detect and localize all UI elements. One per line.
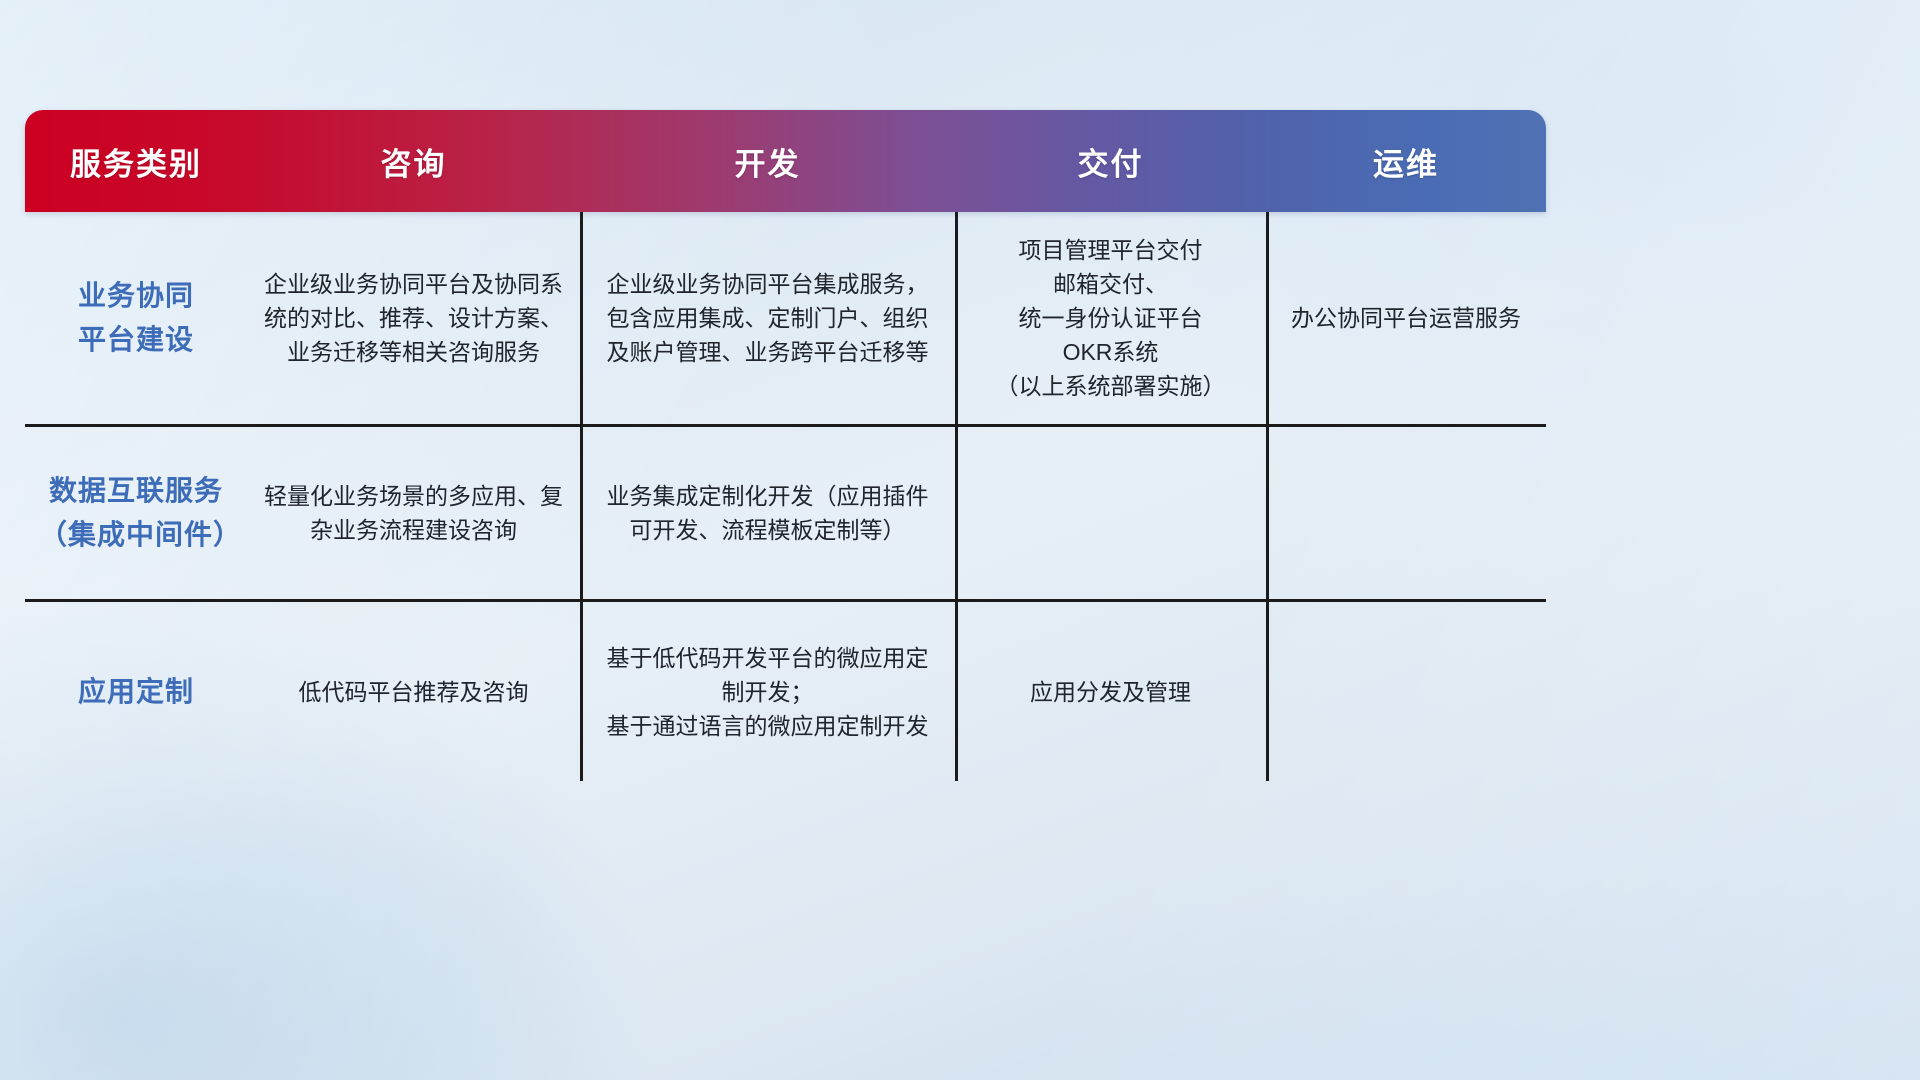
cell-operations: [1266, 427, 1546, 599]
table-row: 数据互联服务 （集成中间件） 轻量化业务场景的多应用、复 杂业务流程建设咨询 业…: [25, 424, 1546, 599]
cell-operations: [1266, 602, 1546, 781]
column-header-consulting: 咨询: [247, 110, 580, 212]
row-label-cell: 业务协同 平台建设: [25, 212, 247, 424]
cell-text: 办公协同平台运营服务: [1291, 301, 1521, 335]
cell-delivery: 应用分发及管理: [955, 602, 1266, 781]
column-header-label: 咨询: [381, 139, 447, 184]
cell-text: 轻量化业务场景的多应用、复 杂业务流程建设咨询: [264, 479, 563, 547]
row-label: 业务协同 平台建设: [78, 274, 194, 362]
cell-delivery: [955, 427, 1266, 599]
column-header-label: 运维: [1373, 139, 1439, 184]
slide-canvas: 服务类别 咨询 开发 交付 运维 业务协同 平台建设 企业级业务: [0, 0, 1920, 1080]
cell-development: 业务集成定制化开发（应用插件 可开发、流程模板定制等）: [580, 427, 955, 599]
row-label-cell: 应用定制: [25, 602, 247, 781]
cell-consulting: 轻量化业务场景的多应用、复 杂业务流程建设咨询: [247, 427, 580, 599]
cell-delivery: 项目管理平台交付 邮箱交付、 统一身份认证平台 OKR系统 （以上系统部署实施）: [955, 212, 1266, 424]
column-header-label: 服务类别: [70, 139, 202, 184]
cell-development: 基于低代码开发平台的微应用定 制开发； 基于通过语言的微应用定制开发: [580, 602, 955, 781]
column-header-delivery: 交付: [955, 110, 1266, 212]
cell-text: 企业级业务协同平台及协同系 统的对比、推荐、设计方案、 业务迁移等相关咨询服务: [264, 267, 563, 369]
table-header-row: 服务类别 咨询 开发 交付 运维: [25, 110, 1546, 212]
table-row: 业务协同 平台建设 企业级业务协同平台及协同系 统的对比、推荐、设计方案、 业务…: [25, 212, 1546, 424]
column-header-development: 开发: [580, 110, 955, 212]
cell-text: 业务集成定制化开发（应用插件 可开发、流程模板定制等）: [607, 479, 929, 547]
row-label-cell: 数据互联服务 （集成中间件）: [25, 427, 247, 599]
column-header-label: 交付: [1078, 139, 1144, 184]
column-header-service-category: 服务类别: [25, 110, 247, 212]
cell-consulting: 企业级业务协同平台及协同系 统的对比、推荐、设计方案、 业务迁移等相关咨询服务: [247, 212, 580, 424]
cell-text: 应用分发及管理: [1030, 675, 1191, 709]
cell-development: 企业级业务协同平台集成服务， 包含应用集成、定制门户、组织 及账户管理、业务跨平…: [580, 212, 955, 424]
column-header-label: 开发: [735, 139, 801, 184]
cell-operations: 办公协同平台运营服务: [1266, 212, 1546, 424]
table-body: 业务协同 平台建设 企业级业务协同平台及协同系 统的对比、推荐、设计方案、 业务…: [25, 212, 1546, 781]
column-header-operations: 运维: [1266, 110, 1546, 212]
cell-text: 企业级业务协同平台集成服务， 包含应用集成、定制门户、组织 及账户管理、业务跨平…: [607, 267, 929, 369]
row-label: 应用定制: [78, 670, 194, 714]
cell-text: 项目管理平台交付 邮箱交付、 统一身份认证平台 OKR系统 （以上系统部署实施）: [996, 233, 1226, 403]
service-matrix-table: 服务类别 咨询 开发 交付 运维 业务协同 平台建设 企业级业务: [25, 110, 1546, 775]
row-label: 数据互联服务 （集成中间件）: [39, 469, 233, 557]
cell-consulting: 低代码平台推荐及咨询: [247, 602, 580, 781]
cell-text: 基于低代码开发平台的微应用定 制开发； 基于通过语言的微应用定制开发: [607, 641, 929, 743]
table-row: 应用定制 低代码平台推荐及咨询 基于低代码开发平台的微应用定 制开发； 基于通过…: [25, 599, 1546, 781]
cell-text: 低代码平台推荐及咨询: [299, 675, 529, 709]
